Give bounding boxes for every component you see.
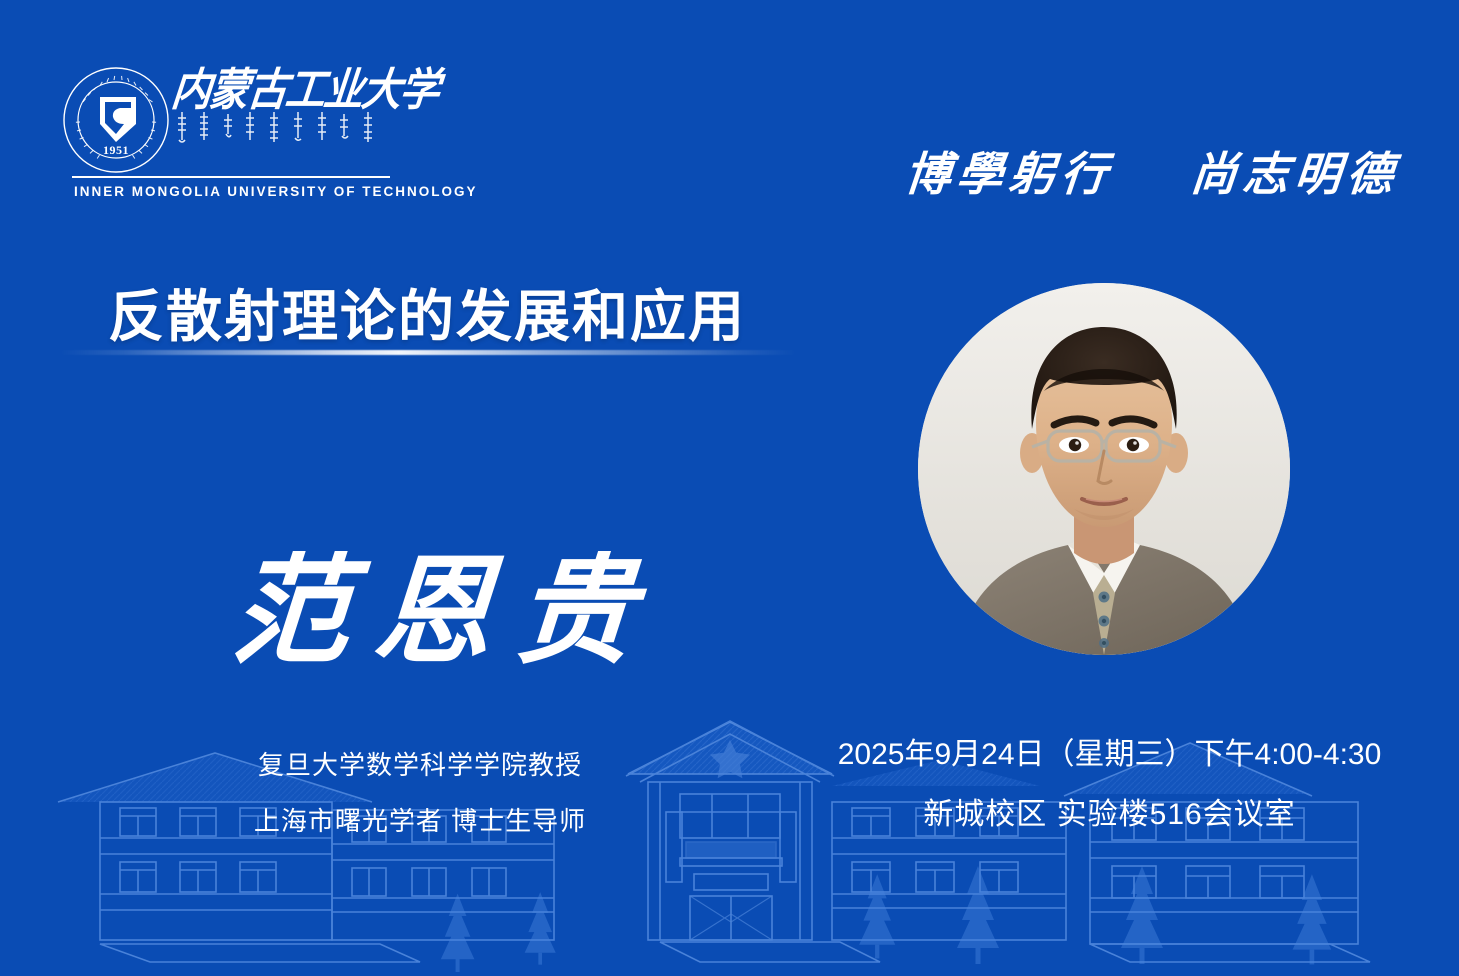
svg-text:1951: 1951 xyxy=(103,143,129,157)
speaker-name: 范恩贵 xyxy=(228,552,662,670)
event-location: 新城校区 实验楼516会议室 xyxy=(760,800,1459,830)
lecture-poster: 1951 内蒙古工业大学 xyxy=(0,0,1459,976)
lecture-title: 反散射理论的发展和应用 xyxy=(108,272,746,353)
event-datetime: 2025年9月24日（星期三）下午4:00-4:30 xyxy=(760,740,1459,770)
motto-part-2: 尚志明德 xyxy=(1188,147,1401,201)
speaker-credentials: 复旦大学数学科学学院教授 上海市曙光学者 博士生导师 xyxy=(0,752,840,834)
speaker-portrait-image xyxy=(918,283,1290,655)
university-wordmark: 内蒙古工业大学 xyxy=(174,68,392,168)
university-emblem-icon: 1951 xyxy=(62,66,170,174)
credential-line-1: 复旦大学数学科学学院教授 xyxy=(0,752,840,778)
speaker-portrait xyxy=(918,283,1290,655)
event-info: 2025年9月24日（星期三）下午4:00-4:30 新城校区 实验楼516会议… xyxy=(760,740,1459,830)
university-logo: 1951 内蒙古工业大学 xyxy=(62,66,392,201)
university-name-en: INNER MONGOLIA UNIVERSITY OF TECHNOLOGY xyxy=(74,184,478,199)
university-name-cn: 内蒙古工业大学 xyxy=(169,68,392,113)
credential-line-2: 上海市曙光学者 博士生导师 xyxy=(0,808,840,834)
university-motto: 博學躬行 尚志明德 xyxy=(902,138,1402,204)
pine-trees xyxy=(441,866,1331,972)
mongolian-script-name xyxy=(174,110,388,144)
title-divider xyxy=(58,350,798,355)
motto-part-1: 博學躬行 xyxy=(902,147,1115,201)
logo-divider xyxy=(72,176,390,178)
